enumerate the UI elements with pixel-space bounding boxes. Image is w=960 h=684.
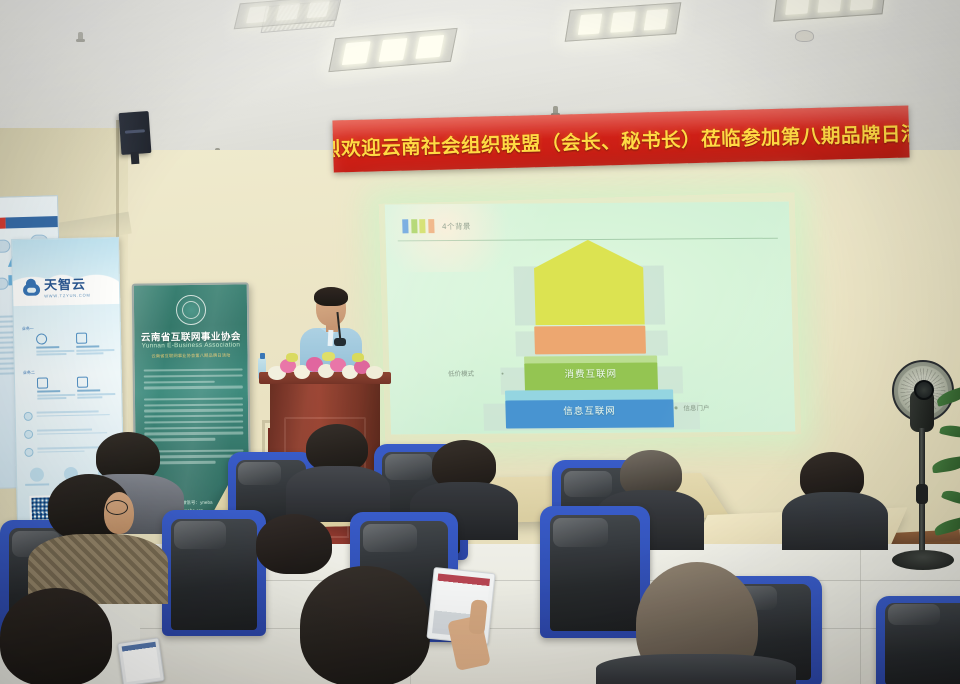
microphone — [334, 338, 346, 346]
speaker-bracket — [131, 152, 140, 165]
fan-height-adjust[interactable] — [916, 484, 928, 504]
audience-member — [782, 492, 888, 550]
poster-header-blue — [6, 216, 60, 229]
poster-feature-cell — [77, 376, 115, 400]
tianzhiyun-url: WWW.TZYUN.COM — [44, 293, 91, 299]
audience-member — [256, 514, 332, 574]
slide-surface: 4个背景 消费互联网 信息互联网 低价模式 信息门户 — [385, 202, 796, 435]
wall-speaker — [119, 111, 152, 155]
audience-member — [596, 654, 796, 684]
poster-section-label: 业务一 — [22, 326, 34, 332]
audience-member — [306, 424, 368, 472]
poster-feature-cell — [37, 377, 75, 401]
feature-icon — [37, 377, 48, 388]
cloud-icon — [23, 283, 40, 295]
smartphone[interactable] — [117, 637, 165, 684]
feature-icon — [76, 333, 87, 344]
bullet-icon — [24, 448, 33, 457]
potted-plant — [930, 380, 960, 550]
audience-chair[interactable] — [540, 506, 650, 638]
feature-icon — [36, 333, 47, 344]
conference-hall-photo: 热烈欢迎云南社会组织联盟（会长、秘书长）莅临参加第八期品牌日活动 4个背景 消费… — [0, 0, 960, 684]
footer-icon — [30, 468, 44, 482]
poster-feature-cell — [36, 333, 74, 357]
presenter-placket — [328, 330, 334, 346]
fan-base — [892, 550, 954, 570]
flower-arrangement — [266, 352, 388, 386]
screen-glare — [385, 202, 796, 435]
tianzhiyun-brand: 天智云 — [44, 279, 91, 293]
tianzhiyun-logo: 天智云 WWW.TZYUN.COM — [23, 279, 91, 299]
audience-chair[interactable] — [162, 510, 266, 636]
feature-icon — [77, 377, 88, 388]
audience-chair[interactable] — [876, 596, 960, 684]
fan-hub — [914, 380, 934, 400]
presenter-hair — [314, 287, 348, 306]
glasses — [106, 500, 128, 515]
poster-section-label: 业务二 — [23, 370, 35, 376]
bullet-icon — [24, 412, 33, 421]
audience-member — [0, 588, 112, 684]
welcome-banner-text: 热烈欢迎云南社会组织联盟（会长、秘书长）莅临参加第八期品牌日活动 — [332, 116, 909, 162]
bullet-icon — [24, 430, 33, 439]
projection-screen: 4个背景 消费互联网 信息互联网 低价模式 信息门户 — [385, 202, 796, 435]
audience-member — [300, 566, 430, 684]
smartphone-screen[interactable] — [121, 642, 160, 683]
poster-feature-cell — [76, 332, 114, 356]
